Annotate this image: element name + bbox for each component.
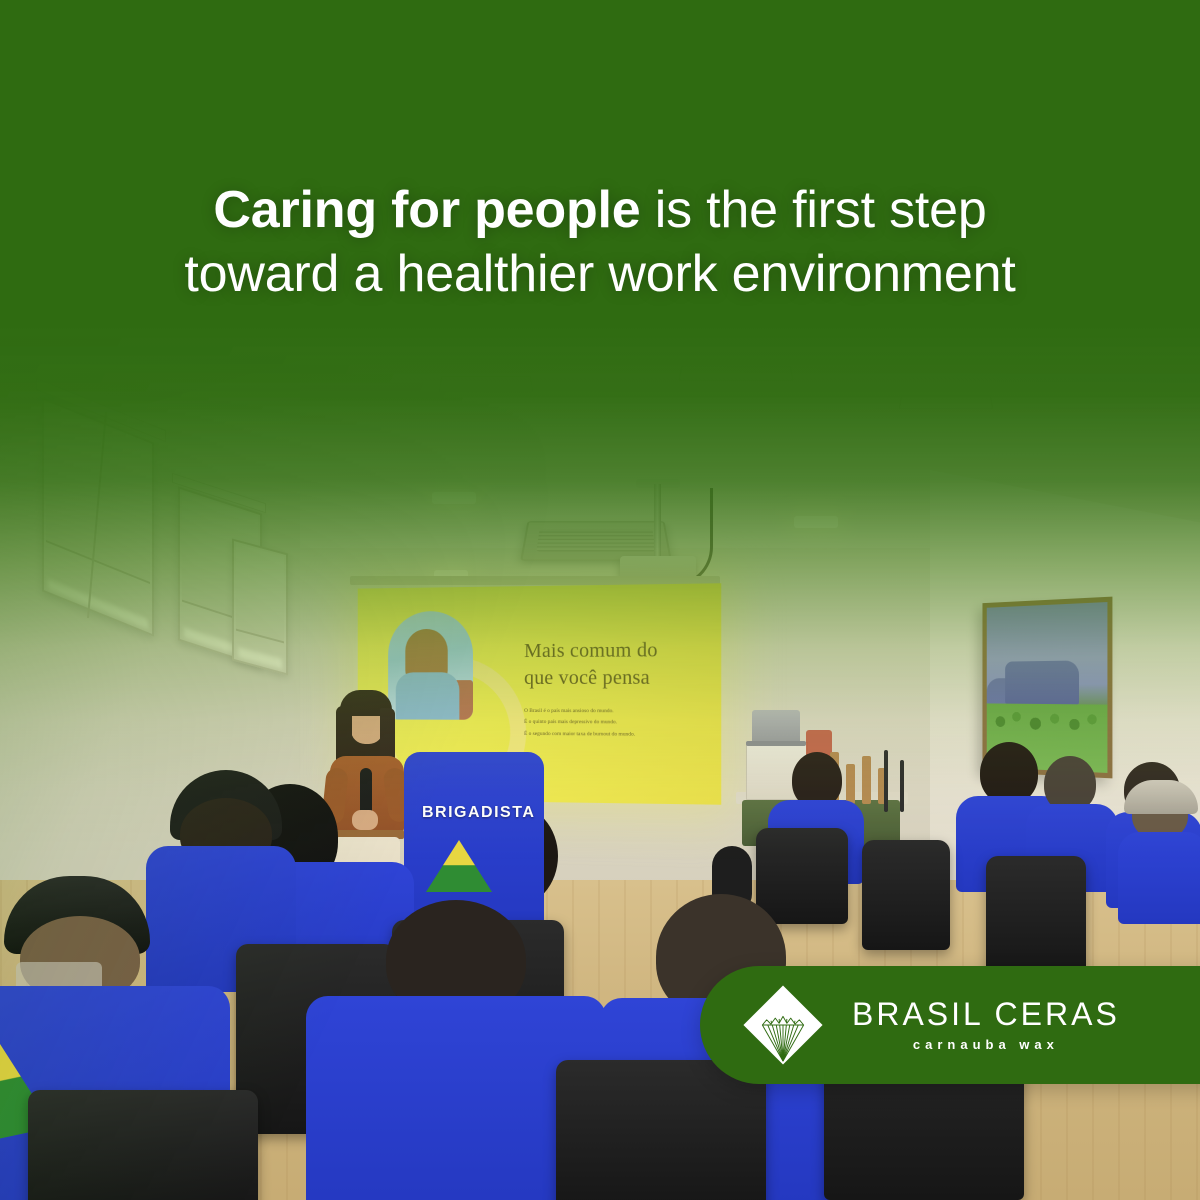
- cap-icon: [1124, 780, 1198, 814]
- page-title: Caring for people is the first step towa…: [0, 178, 1200, 307]
- brigade-emblem-icon: [426, 840, 492, 892]
- window-with-blind: [232, 538, 288, 675]
- slide-title-line-2: que você pensa: [524, 664, 713, 692]
- brand-tagline: carnauba wax: [913, 1037, 1059, 1052]
- brand-logo-badge[interactable]: BRASIL CERAS carnauba wax: [700, 966, 1200, 1084]
- headline-bold: Caring for people: [213, 181, 640, 239]
- slide-body-line-2: É o quinto país mais depressivo do mundo…: [524, 717, 707, 729]
- mesa-mountain: [1005, 661, 1079, 705]
- ceiling-panel: [439, 376, 534, 392]
- chair: [862, 840, 950, 950]
- attendee-with-cap: [1118, 778, 1200, 918]
- laptop-icon: [752, 710, 800, 742]
- slide-body-text: O Brasil é o país mais ansioso do mundo.…: [524, 706, 707, 741]
- attendee-shirt: [1118, 832, 1200, 924]
- brand-name: BRASIL CERAS: [852, 998, 1120, 1030]
- ceiling-panel: [678, 366, 793, 381]
- chair: [986, 856, 1086, 976]
- chair: [28, 1090, 258, 1200]
- ceiling-light: [794, 516, 838, 528]
- air-conditioner-icon: [520, 521, 672, 561]
- shirt-print-text: BRIGADISTA: [422, 804, 534, 822]
- slide-body-line-3: É o segundo com maior taxa de burnout do…: [524, 729, 707, 741]
- mic-stand: [884, 750, 888, 812]
- roller-blind: [236, 544, 284, 644]
- slide-title: Mais comum do que você pensa: [524, 637, 713, 692]
- social-media-poster: Mais comum do que você pensa O Brasil é …: [0, 0, 1200, 1200]
- projector-mount-rod: [654, 484, 661, 562]
- laptop-base: [746, 741, 806, 746]
- slide-body-line-1: O Brasil é o país mais ansioso do mundo.: [524, 706, 707, 718]
- slide-title-line-1: Mais comum do: [524, 637, 713, 665]
- ceiling-panel: [899, 395, 993, 409]
- ceiling-light: [432, 492, 476, 504]
- mic-stand: [900, 760, 904, 812]
- palm-fan-diamond-icon: [740, 982, 826, 1068]
- brand-wordmark: BRASIL CERAS carnauba wax: [852, 998, 1120, 1052]
- chair: [556, 1060, 766, 1200]
- ac-vent: [536, 529, 655, 551]
